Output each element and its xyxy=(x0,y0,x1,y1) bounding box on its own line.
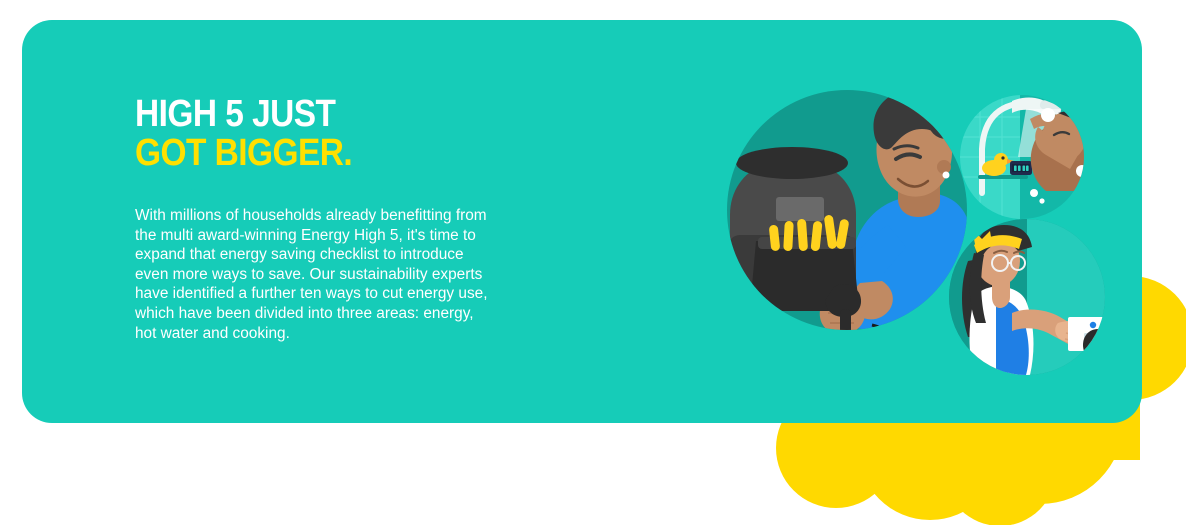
illustration-shower-timer xyxy=(960,95,1102,219)
page-title: HIGH 5 JUST GOT BIGGER. xyxy=(135,95,487,173)
shower-timer xyxy=(1010,161,1032,175)
illustration-plug-socket xyxy=(949,219,1112,389)
hero-card: HIGH 5 JUST GOT BIGGER. With millions of… xyxy=(22,20,1142,423)
illustration-cluster xyxy=(712,75,1112,405)
hero-banner: HIGH 5 JUST GOT BIGGER. With millions of… xyxy=(0,0,1186,525)
headline-line-1: HIGH 5 JUST xyxy=(135,95,487,134)
hero-body-text: With millions of households already bene… xyxy=(135,173,495,343)
illustration-air-fryer xyxy=(727,89,970,351)
headline-line-2: GOT BIGGER. xyxy=(135,134,487,173)
hero-copy-block: HIGH 5 JUST GOT BIGGER. With millions of… xyxy=(135,95,535,343)
